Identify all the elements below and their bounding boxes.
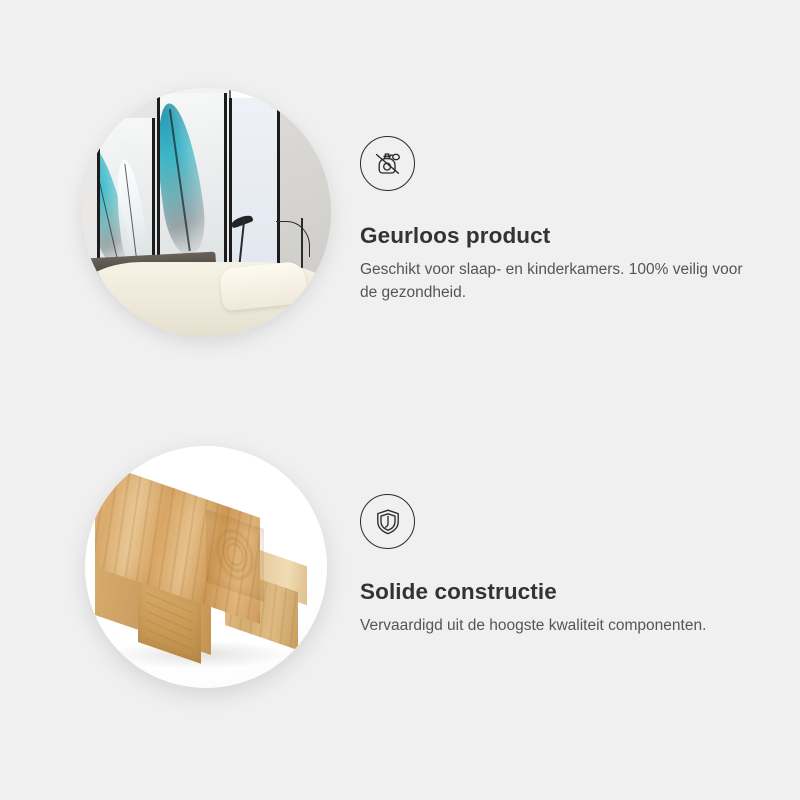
feature-description: Vervaardigd uit de hoogste kwaliteit com… bbox=[360, 605, 745, 637]
feature-image-wooden-beams bbox=[85, 446, 327, 688]
feature-image-bedroom-feather-artwork bbox=[82, 88, 331, 337]
bedroom-scene bbox=[82, 88, 331, 337]
feature-title: Geurloos product bbox=[360, 223, 760, 249]
feature-item-geurloos-product: Geurloos product Geschikt voor slaap- en… bbox=[0, 0, 800, 410]
shield-icon bbox=[360, 494, 415, 549]
feature-text-block: Solide constructie Vervaardigd uit de ho… bbox=[360, 494, 760, 637]
feature-text-block: Geurloos product Geschikt voor slaap- en… bbox=[360, 136, 760, 304]
art-panel-2 bbox=[157, 93, 228, 272]
pillow bbox=[219, 260, 308, 311]
wooden-beams-scene bbox=[85, 446, 327, 688]
feature-title: Solide constructie bbox=[360, 579, 760, 605]
feather-shape bbox=[157, 101, 210, 257]
no-fragrance-icon bbox=[360, 136, 415, 191]
art-panel-3 bbox=[229, 98, 280, 275]
feature-item-solide-constructie: Solide constructie Vervaardigd uit de ho… bbox=[0, 410, 800, 800]
feature-description: Geschikt voor slaap- en kinderkamers. 10… bbox=[360, 249, 745, 304]
feature-list: Geurloos product Geschikt voor slaap- en… bbox=[0, 0, 800, 800]
art-panel-1 bbox=[97, 118, 155, 275]
